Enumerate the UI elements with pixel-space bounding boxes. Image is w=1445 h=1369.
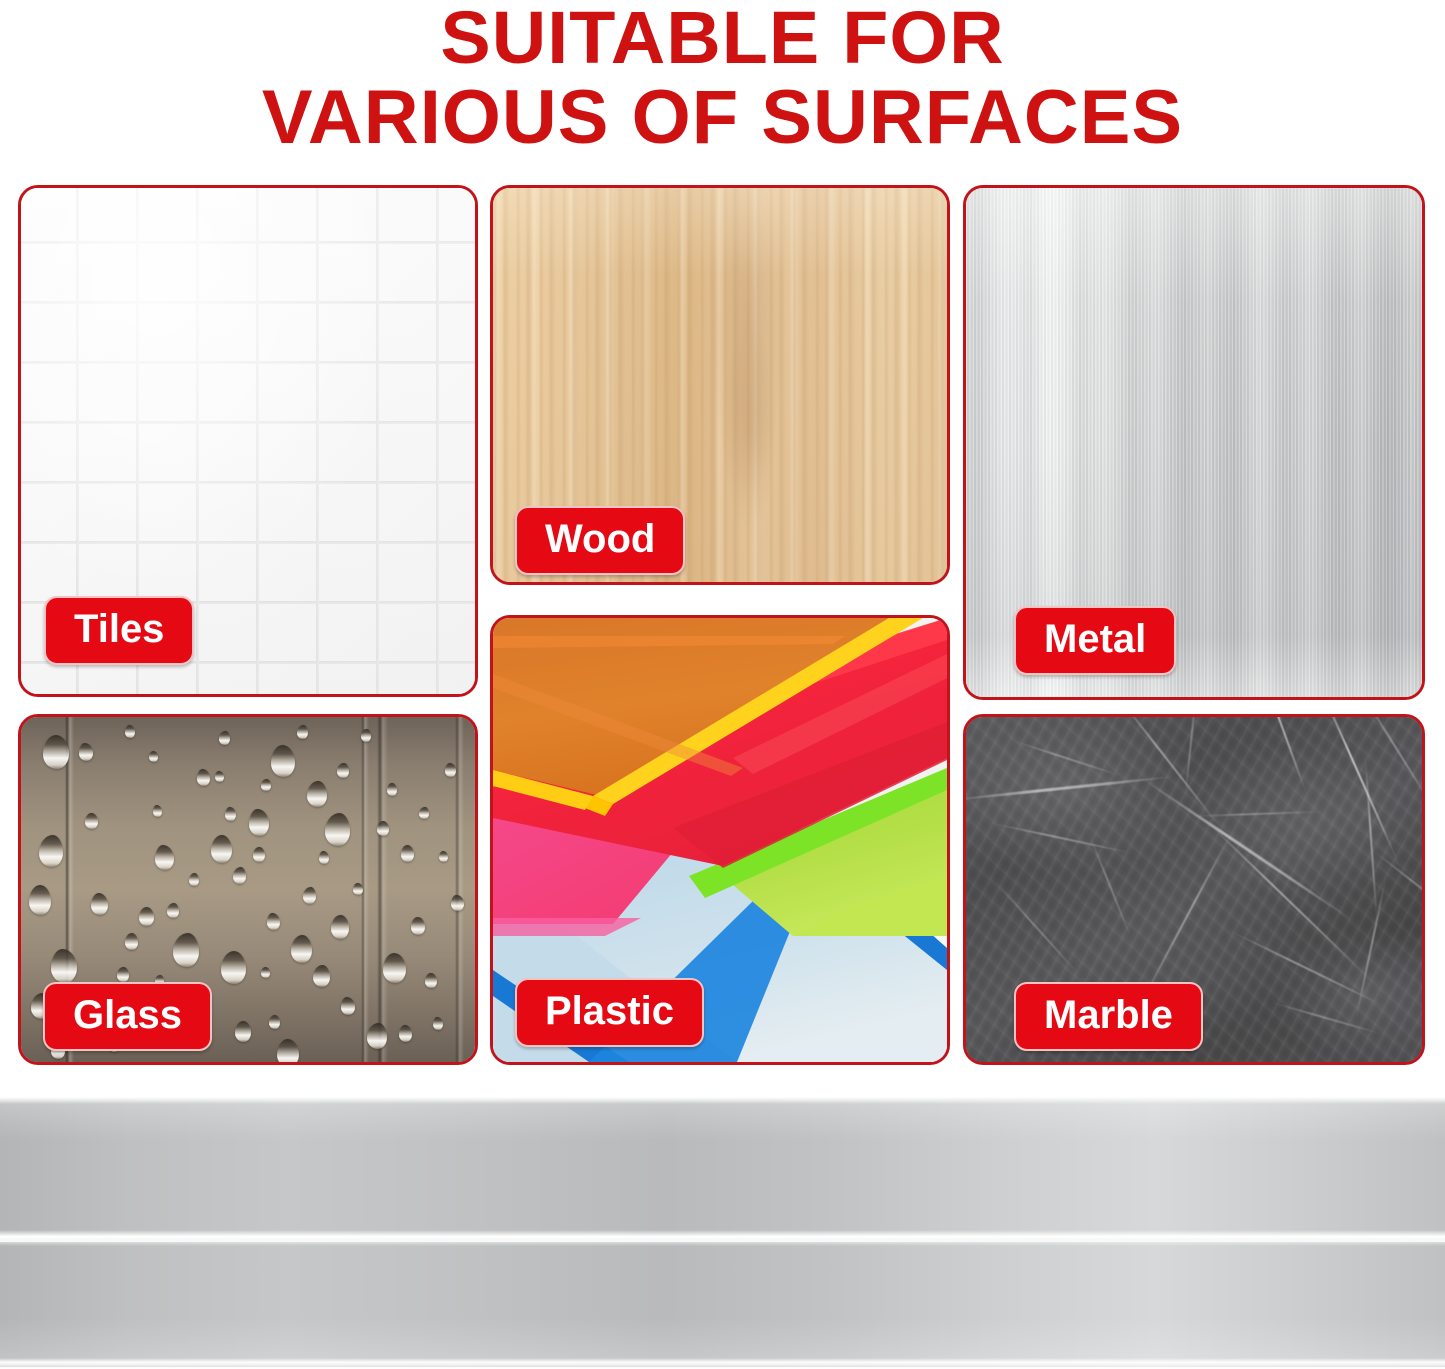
water-droplet: [433, 1017, 443, 1030]
water-droplet: [155, 845, 174, 870]
water-droplet: [125, 933, 138, 950]
surface-panel-metal: Metal: [963, 185, 1425, 700]
water-droplet: [253, 847, 265, 862]
water-droplet: [451, 895, 464, 911]
water-droplet: [249, 809, 269, 836]
product-bottom-band: [0, 1090, 1445, 1367]
water-droplet: [197, 769, 210, 786]
water-droplet: [377, 821, 389, 836]
water-droplet: [219, 731, 230, 745]
surface-label-glass: Glass: [43, 982, 212, 1051]
water-droplet: [211, 835, 232, 863]
surface-label-wood: Wood: [515, 506, 685, 575]
water-droplet: [445, 763, 456, 777]
water-droplet: [291, 935, 312, 963]
water-droplet: [221, 951, 246, 984]
water-droplet: [29, 885, 51, 915]
surface-panel-marble: Marble: [963, 714, 1425, 1065]
band-sheen: [0, 1090, 1445, 1367]
water-droplet: [425, 973, 437, 988]
water-droplet: [383, 953, 406, 983]
water-droplet: [325, 813, 350, 846]
surface-panel-tiles: Tiles: [18, 185, 478, 697]
water-droplet: [341, 997, 355, 1015]
surface-grid: Tiles Wood Metal Glass: [0, 0, 1445, 1070]
water-droplet: [297, 725, 308, 739]
water-droplet: [353, 883, 363, 895]
water-droplet: [277, 1039, 299, 1065]
water-droplet: [313, 965, 330, 987]
water-droplet: [387, 783, 397, 796]
surface-label-marble: Marble: [1014, 982, 1203, 1051]
water-droplet: [319, 851, 329, 864]
water-droplet: [337, 763, 349, 778]
water-droplet: [125, 725, 135, 738]
water-droplet: [43, 735, 69, 769]
water-droplet: [149, 751, 158, 762]
water-droplet: [225, 807, 236, 821]
water-droplet: [233, 867, 246, 884]
water-droplet: [261, 967, 270, 978]
water-droplet: [261, 779, 271, 791]
water-droplet: [419, 807, 429, 819]
water-droplet: [235, 1021, 251, 1042]
surface-panel-wood: Wood: [490, 185, 950, 585]
water-droplet: [267, 913, 280, 930]
surface-panel-plastic: Plastic: [490, 615, 950, 1065]
water-droplet: [361, 729, 371, 742]
water-droplet: [303, 887, 316, 904]
water-droplet: [85, 813, 98, 829]
water-droplet: [367, 1023, 387, 1049]
water-droplet: [269, 1015, 280, 1029]
water-droplet: [79, 743, 93, 761]
surface-label-metal: Metal: [1014, 606, 1176, 675]
water-droplet: [117, 967, 129, 982]
water-droplet: [39, 835, 63, 867]
surface-label-plastic: Plastic: [515, 978, 704, 1047]
water-droplet: [189, 873, 199, 886]
water-droplet: [51, 949, 77, 983]
water-droplet: [439, 851, 448, 862]
surface-panel-glass: Glass: [18, 714, 478, 1065]
surface-label-tiles: Tiles: [44, 596, 194, 665]
water-droplet: [399, 1025, 412, 1042]
water-droplet: [271, 745, 295, 777]
water-droplet: [401, 845, 414, 862]
water-droplet: [307, 781, 327, 807]
water-droplet: [411, 917, 425, 935]
water-droplet: [173, 933, 199, 967]
water-droplet: [153, 805, 162, 817]
water-droplet: [139, 907, 154, 926]
water-droplet: [167, 903, 179, 918]
water-droplet: [331, 915, 349, 939]
water-droplet: [91, 893, 108, 915]
water-droplet: [215, 771, 224, 782]
